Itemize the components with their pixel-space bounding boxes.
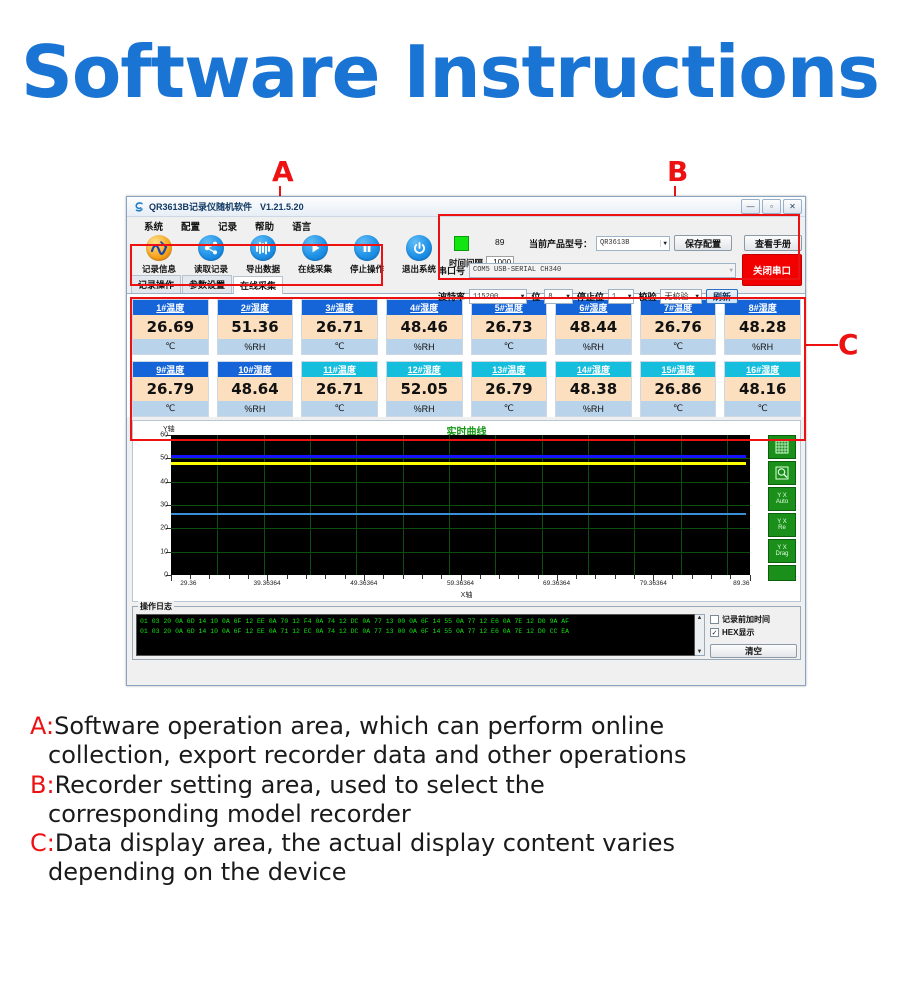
card-value: 26.73 [472, 315, 547, 339]
log-output[interactable]: 01 03 20 0A 6D 14 10 0A 6F 12 EE 0A 70 1… [136, 614, 695, 656]
application-window: QR3613B记录仪随机软件 V1.21.5.20 — ▫ ✕ 系统 配置 记录… [126, 196, 806, 686]
log-option-timestamp[interactable]: 记录前加时间 [710, 614, 797, 625]
caption-line-b-cont: corresponding model recorder [30, 800, 896, 829]
toolbar-button-online-collect[interactable]: 在线采集 [289, 234, 341, 275]
callout-letter-a: A [272, 158, 294, 186]
card-value: 51.36 [218, 315, 293, 339]
toolbar-button-read-record[interactable]: 读取记录 [185, 234, 237, 275]
chevron-down-icon: ▼ [628, 293, 632, 300]
card-value: 26.71 [302, 315, 377, 339]
caption-text-c: Data display area, the actual display co… [55, 829, 675, 857]
data-card: 1#温度26.69℃ [132, 299, 209, 355]
save-config-button[interactable]: 保存配置 [674, 235, 732, 251]
data-card: 15#温度26.86℃ [640, 361, 717, 417]
data-card: 4#湿度48.46%RH [386, 299, 463, 355]
menu-item-language[interactable]: 语言 [283, 218, 320, 234]
card-unit: ℃ [641, 401, 716, 416]
card-value: 48.46 [387, 315, 462, 339]
caption-text-a: Software operation area, which can perfo… [54, 712, 664, 740]
chart-xtick: 29.36 [180, 580, 196, 587]
chart-toolbar: Y X Auto Y X Re Y X Drag [768, 435, 796, 581]
chart-zoom-icon[interactable] [768, 461, 796, 485]
chart-x-axis: 29.36 39.36364 49.36364 59.36364 69.3636… [171, 575, 750, 587]
log-line: 01 03 20 0A 6D 14 10 0A 6F 12 EE 0A 70 1… [140, 617, 691, 627]
operation-log-panel: 操作日志 01 03 20 0A 6D 14 10 0A 6F 12 EE 0A… [132, 606, 801, 660]
chart-xtick: 69.36364 [543, 580, 570, 587]
data-card: 12#湿度52.05%RH [386, 361, 463, 417]
toolbar-row: 记录信息 读取记录 导出数据 在线采集 停止操作 [127, 234, 805, 278]
card-value: 26.69 [133, 315, 208, 339]
recorder-settings-panel: 当前产品型号： QR3613B ▼ 保存配置 查看手册 串口号 COM5 USB… [438, 235, 802, 307]
window-title: QR3613B记录仪随机软件 [149, 200, 252, 213]
card-unit: ℃ [133, 339, 208, 354]
toolbar-label-exit: 退出系统 [402, 263, 436, 275]
card-value: 48.44 [556, 315, 631, 339]
toolbar-label-export-data: 导出数据 [246, 263, 280, 275]
data-card: 11#温度26.71℃ [301, 361, 378, 417]
menu-item-help[interactable]: 帮助 [246, 218, 283, 234]
data-card: 14#湿度48.38%RH [555, 361, 632, 417]
chevron-down-icon: ▼ [695, 293, 699, 300]
log-option-hex[interactable]: ✓ HEX显示 [710, 627, 797, 638]
toolbar-label-read-record: 读取记录 [194, 263, 228, 275]
card-unit: %RH [725, 339, 800, 354]
log-option-timestamp-label: 记录前加时间 [722, 614, 770, 625]
card-header: 12#湿度 [387, 362, 462, 377]
parity-label: 校验 [638, 290, 656, 303]
record-info-icon [146, 235, 172, 261]
card-header: 16#湿度 [725, 362, 800, 377]
checkbox-timestamp[interactable] [710, 615, 719, 624]
caption-line-a: A:Software operation area, which can per… [30, 712, 896, 741]
toolbar-button-record-info[interactable]: 记录信息 [133, 234, 185, 275]
card-value: 26.79 [133, 377, 208, 401]
data-bits-label: 位 [531, 290, 540, 303]
data-card-grid: 1#温度26.69℃ 2#湿度51.36%RH 3#温度26.71℃ 4#湿度4… [132, 299, 801, 417]
card-header: 14#湿度 [556, 362, 631, 377]
chevron-down-icon: ▼ [566, 293, 570, 300]
window-titlebar: QR3613B记录仪随机软件 V1.21.5.20 — ▫ ✕ [127, 197, 805, 217]
caption-key-c: C: [30, 829, 55, 857]
baud-select[interactable]: 115200 ▼ [469, 289, 527, 304]
callout-letter-c: C [838, 331, 859, 359]
close-port-button[interactable]: 关闭串口 [742, 254, 802, 286]
checkbox-hex[interactable]: ✓ [710, 628, 719, 637]
data-card: 8#湿度48.28%RH [724, 299, 801, 355]
scroll-up-icon[interactable]: ▲ [697, 615, 703, 621]
chart-xtick: 59.36364 [447, 580, 474, 587]
maximize-button[interactable]: ▫ [762, 199, 781, 214]
card-unit: ℃ [725, 401, 800, 416]
caption-key-a: A: [30, 712, 54, 740]
card-value: 48.38 [556, 377, 631, 401]
page-title: Software Instructions [0, 36, 900, 108]
tab-online-collection[interactable]: 在线采集 [233, 276, 283, 294]
card-unit: %RH [387, 401, 462, 416]
data-card: 16#湿度48.16℃ [724, 361, 801, 417]
caption-block: A:Software operation area, which can per… [30, 712, 896, 888]
port-select[interactable]: COM5 USB-SERIAL CH340 ▼ [469, 263, 736, 278]
card-value: 26.71 [302, 377, 377, 401]
chart-x-axis-label: X轴 [133, 590, 800, 600]
caption-text-b: Recorder setting area, used to select th… [55, 771, 545, 799]
scroll-down-icon[interactable]: ▼ [697, 649, 703, 655]
chart-series-humidity-2 [171, 455, 746, 458]
port-label: 串口号 [438, 264, 465, 277]
data-bits-select[interactable]: 8 ▼ [544, 289, 572, 304]
card-value: 48.28 [725, 315, 800, 339]
card-value: 48.64 [218, 377, 293, 401]
card-unit: %RH [387, 339, 462, 354]
caption-line-b: B:Recorder setting area, used to select … [30, 771, 896, 800]
card-header: 2#湿度 [218, 300, 293, 315]
card-header: 11#温度 [302, 362, 377, 377]
toolbar-button-export-data[interactable]: 导出数据 [237, 234, 289, 275]
data-card: 3#温度26.71℃ [301, 299, 378, 355]
play-icon [302, 235, 328, 261]
window-controls: — ▫ ✕ [741, 199, 802, 214]
chart-rescale-button[interactable]: Y X Re [768, 513, 796, 537]
chart-extra-button[interactable] [768, 565, 796, 581]
log-line: 01 03 20 0A 6D 14 10 0A 6F 12 EE 0A 71 1… [140, 627, 691, 637]
chart-xtick: 89.36 [733, 580, 749, 587]
power-icon [406, 235, 432, 261]
menu-bar: 系统 配置 记录 帮助 语言 [127, 217, 805, 234]
view-manual-button[interactable]: 查看手册 [744, 235, 802, 251]
product-model-label: 当前产品型号： [529, 237, 592, 250]
log-legend: 操作日志 [138, 601, 174, 612]
toolbar-label-online-collect: 在线采集 [298, 263, 332, 275]
chevron-down-icon: ▼ [660, 240, 667, 247]
toolbar-label-stop: 停止操作 [350, 263, 384, 275]
share-icon [198, 235, 224, 261]
toolbar-label-record-info: 记录信息 [142, 263, 176, 275]
card-unit: %RH [218, 401, 293, 416]
chevron-down-icon: ▼ [521, 293, 525, 300]
pause-icon [354, 235, 380, 261]
window-version: V1.21.5.20 [260, 202, 304, 212]
data-card: 2#湿度51.36%RH [217, 299, 294, 355]
chart-ytick: 40 [160, 478, 168, 485]
data-card: 5#温度26.73℃ [471, 299, 548, 355]
caption-line-c: C:Data display area, the actual display … [30, 829, 896, 858]
log-scrollbar[interactable]: ▲ ▼ [695, 614, 705, 656]
card-unit: ℃ [641, 339, 716, 354]
stop-bits-label: 停止位 [577, 290, 604, 303]
card-value: 26.79 [472, 377, 547, 401]
card-unit: %RH [556, 339, 631, 354]
menu-item-config[interactable]: 配置 [172, 218, 209, 234]
chart-ytick: 20 [160, 525, 168, 532]
chart-series-temperature [171, 513, 746, 515]
chart-plot-area[interactable]: 0 10 20 30 40 50 60 [171, 435, 750, 575]
card-header: 15#温度 [641, 362, 716, 377]
chart-xtick: 39.36364 [254, 580, 281, 587]
caption-key-b: B: [30, 771, 55, 799]
app-logo-icon [133, 201, 145, 213]
data-card: 6#湿度48.44%RH [555, 299, 632, 355]
chart-xtick: 49.36364 [350, 580, 377, 587]
card-header: 13#温度 [472, 362, 547, 377]
baud-label: 波特率 [438, 290, 465, 303]
chart-ytick: 30 [160, 502, 168, 509]
card-header: 3#温度 [302, 300, 377, 315]
chart-xtick: 79.36364 [640, 580, 667, 587]
data-display-area: 1#温度26.69℃ 2#湿度51.36%RH 3#温度26.71℃ 4#湿度4… [127, 294, 805, 417]
data-card: 9#温度26.79℃ [132, 361, 209, 417]
data-card: 13#温度26.79℃ [471, 361, 548, 417]
card-value: 26.76 [641, 315, 716, 339]
card-value: 48.16 [725, 377, 800, 401]
card-unit: ℃ [302, 401, 377, 416]
data-card: 10#湿度48.64%RH [217, 361, 294, 417]
chevron-down-icon: ▼ [729, 267, 733, 274]
chart-ytick: 50 [160, 455, 168, 462]
chart-ytick: 60 [160, 432, 168, 439]
refresh-button[interactable]: 刷新 [706, 289, 738, 304]
card-value: 26.86 [641, 377, 716, 401]
waveform-icon [250, 235, 276, 261]
data-card: 7#温度26.76℃ [640, 299, 717, 355]
caption-line-c-cont: depending on the device [30, 858, 896, 887]
log-option-hex-label: HEX显示 [722, 627, 754, 638]
menu-item-system[interactable]: 系统 [135, 218, 172, 234]
realtime-chart: 实时曲线 Y轴 X轴 0 10 20 30 40 50 60 29.36 [132, 420, 801, 602]
chart-auto-scale-button[interactable]: Y X Auto [768, 487, 796, 511]
card-unit: ℃ [302, 339, 377, 354]
stop-bits-select[interactable]: 1 ▼ [608, 289, 635, 304]
card-header: 9#温度 [133, 362, 208, 377]
product-model-select[interactable]: QR3613B ▼ [596, 236, 670, 251]
clear-log-button[interactable]: 清空 [710, 644, 797, 658]
toolbar-button-stop[interactable]: 停止操作 [341, 234, 393, 275]
parity-select[interactable]: 无校验 ▼ [660, 289, 702, 304]
card-unit: %RH [556, 401, 631, 416]
card-unit: ℃ [133, 401, 208, 416]
log-options: 记录前加时间 ✓ HEX显示 清空 [705, 614, 797, 656]
callout-letter-b: B [667, 158, 688, 186]
caption-line-a-cont: collection, export recorder data and oth… [30, 741, 896, 770]
card-header: 10#湿度 [218, 362, 293, 377]
chart-grid-toggle-icon[interactable] [768, 435, 796, 459]
chart-series-humidity-1 [171, 462, 746, 465]
card-value: 52.05 [387, 377, 462, 401]
card-unit: ℃ [472, 339, 547, 354]
card-unit: ℃ [472, 401, 547, 416]
card-header: 1#温度 [133, 300, 208, 315]
close-button[interactable]: ✕ [783, 199, 802, 214]
chart-drag-button[interactable]: Y X Drag [768, 539, 796, 563]
menu-item-record[interactable]: 记录 [209, 218, 246, 234]
card-unit: %RH [218, 339, 293, 354]
callout-leader-c [806, 344, 838, 346]
chart-ytick: 10 [160, 548, 168, 555]
chart-ytick: 0 [164, 572, 168, 579]
minimize-button[interactable]: — [741, 199, 760, 214]
